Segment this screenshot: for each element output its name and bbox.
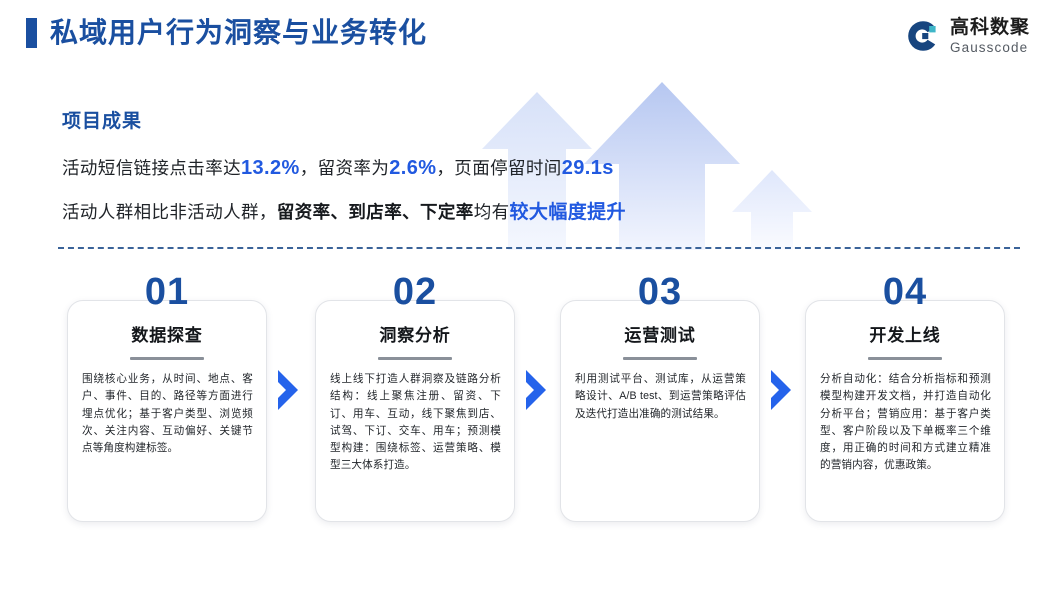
step-title-3: 运营测试 <box>561 321 759 346</box>
results-line-1: 活动短信链接点击率达13.2%，留资率为2.6%，页面停留时间29.1s <box>62 155 702 180</box>
metric-click-rate: 13.2% <box>241 157 300 179</box>
metric-dwell-time: 29.1s <box>562 157 614 179</box>
results-line2-text2: 均有 <box>474 202 510 222</box>
section-divider <box>58 247 1020 249</box>
step-number-2: 02 <box>315 272 515 312</box>
step-card-body-2[interactable]: 洞察分析 线上线下打造人群洞察及链路分析结构：线上聚焦注册、留资、下订、用车、互… <box>315 300 515 522</box>
chevron-right-icon-1 <box>275 368 301 412</box>
results-line1-text3: ，页面停留时间 <box>436 158 561 178</box>
step-title-2: 洞察分析 <box>316 321 514 346</box>
chevron-right-icon-3 <box>768 368 794 412</box>
chevron-right-icon-2 <box>523 368 549 412</box>
project-results-block: 项目成果 活动短信链接点击率达13.2%，留资率为2.6%，页面停留时间29.1… <box>62 106 702 241</box>
step-card-body-1[interactable]: 数据探查 围绕核心业务，从时间、地点、客户、事件、目的、路径等方面进行埋点优化；… <box>67 300 267 522</box>
results-line-2: 活动人群相比非活动人群，留资率、到店率、下定率均有较大幅度提升 <box>62 197 702 224</box>
results-line1-text1: 活动短信链接点击率达 <box>62 158 241 178</box>
results-line2-emphasis: 较大幅度提升 <box>510 202 626 223</box>
page-title: 私域用户行为洞察与业务转化 <box>50 19 427 47</box>
step-rule-4 <box>868 357 942 360</box>
step-description-4: 分析自动化：结合分析指标和预测模型构建开发文档，并打造自动化分析平台；营销应用：… <box>820 371 991 475</box>
step-title-1: 数据探查 <box>68 321 266 346</box>
process-steps: 01 数据探查 围绕核心业务，从时间、地点、客户、事件、目的、路径等方面进行埋点… <box>0 272 1048 532</box>
brand-name-en: Gausscode <box>950 41 1030 55</box>
step-rule-1 <box>130 357 204 360</box>
step-card-3[interactable]: 03 运营测试 利用测试平台、测试库，从运营策略设计、A/B test、到运营策… <box>560 272 760 524</box>
page-header: 私域用户行为洞察与业务转化 高科数聚 Gausscode <box>0 0 1048 78</box>
step-rule-3 <box>623 357 697 360</box>
step-card-4[interactable]: 04 开发上线 分析自动化：结合分析指标和预测模型构建开发文档，并打造自动化分析… <box>805 272 1005 524</box>
brand-logo-text: 高科数聚 Gausscode <box>950 18 1030 55</box>
step-description-1: 围绕核心业务，从时间、地点、客户、事件、目的、路径等方面进行埋点优化；基于客户类… <box>82 371 253 457</box>
brand-logo: 高科数聚 Gausscode <box>905 18 1030 55</box>
results-line2-metrics: 留资率、到店率、下定率 <box>277 202 474 222</box>
step-rule-2 <box>378 357 452 360</box>
step-card-body-4[interactable]: 开发上线 分析自动化：结合分析指标和预测模型构建开发文档，并打造自动化分析平台；… <box>805 300 1005 522</box>
gausscode-logo-icon <box>905 18 941 54</box>
step-description-3: 利用测试平台、测试库，从运营策略设计、A/B test、到运营策略评估及迭代打造… <box>575 371 746 423</box>
step-card-2[interactable]: 02 洞察分析 线上线下打造人群洞察及链路分析结构：线上聚焦注册、留资、下订、用… <box>315 272 515 524</box>
brand-name-cn: 高科数聚 <box>950 18 1030 37</box>
step-number-1: 01 <box>67 272 267 312</box>
results-heading: 项目成果 <box>62 106 702 133</box>
title-accent-bar <box>26 18 37 48</box>
step-description-2: 线上线下打造人群洞察及链路分析结构：线上聚焦注册、留资、下订、用车、互动，线下聚… <box>330 371 501 475</box>
step-number-3: 03 <box>560 272 760 312</box>
step-card-body-3[interactable]: 运营测试 利用测试平台、测试库，从运营策略设计、A/B test、到运营策略评估… <box>560 300 760 522</box>
results-line2-text1: 活动人群相比非活动人群， <box>62 202 277 222</box>
page-title-wrap: 私域用户行为洞察与业务转化 <box>26 18 427 48</box>
metric-lead-rate: 2.6% <box>389 157 436 179</box>
results-line1-text2: ，留资率为 <box>300 158 390 178</box>
step-number-4: 04 <box>805 272 1005 312</box>
step-card-1[interactable]: 01 数据探查 围绕核心业务，从时间、地点、客户、事件、目的、路径等方面进行埋点… <box>67 272 267 524</box>
step-title-4: 开发上线 <box>806 321 1004 346</box>
